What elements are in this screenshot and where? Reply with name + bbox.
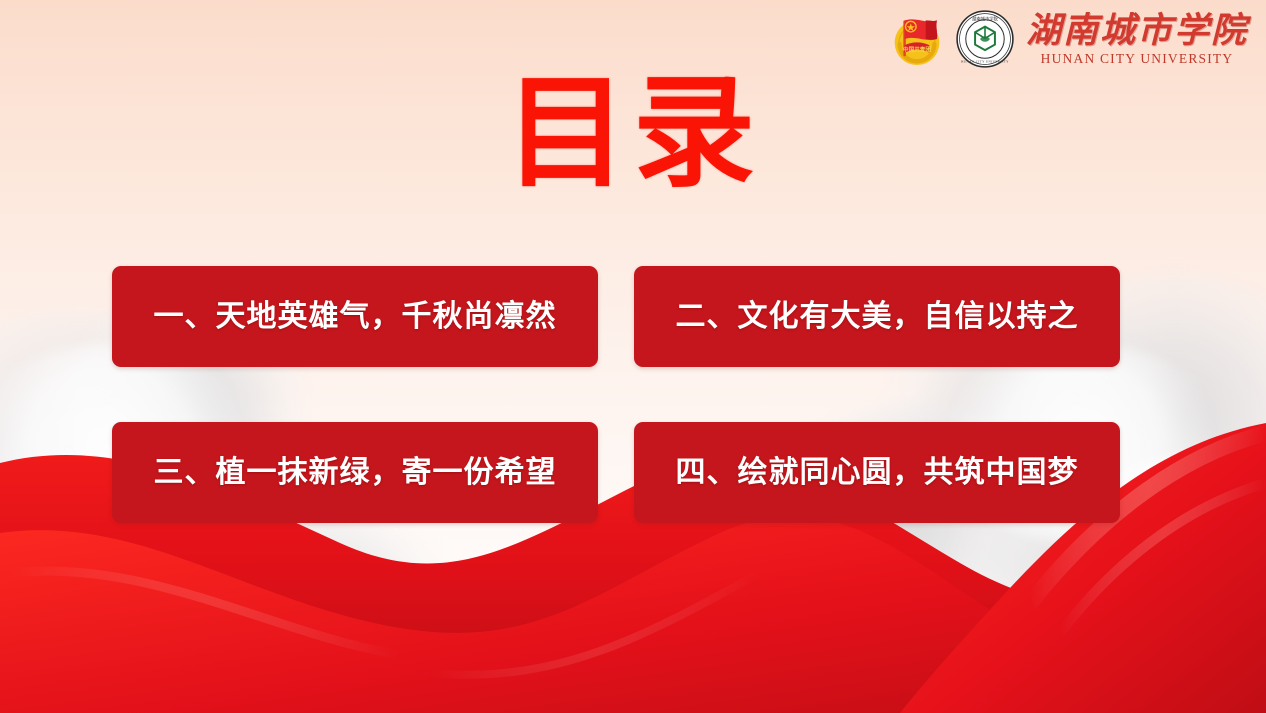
slide-canvas: 中国共青团 湖南城市学院 HUNAN CITY UNIVERSITY 湖南城市学… <box>0 0 1266 713</box>
contents-grid: 一、天地英雄气，千秋尚凛然 二、文化有大美，自信以持之 三、植一抹新绿，寄一份希… <box>112 266 1120 523</box>
contents-item-4-label: 四、绘就同心圆，共筑中国梦 <box>676 458 1079 488</box>
contents-item-4[interactable]: 四、绘就同心圆，共筑中国梦 <box>634 422 1120 523</box>
contents-item-2[interactable]: 二、文化有大美，自信以持之 <box>634 266 1120 367</box>
communist-youth-league-emblem-icon: 中国共青团 <box>886 8 948 70</box>
contents-item-3[interactable]: 三、植一抹新绿，寄一份希望 <box>112 422 598 523</box>
university-name-en: HUNAN CITY UNIVERSITY <box>1041 52 1234 66</box>
svg-text:HUNAN CITY UNIVERSITY: HUNAN CITY UNIVERSITY <box>961 60 1009 64</box>
contents-item-1-label: 一、天地英雄气，千秋尚凛然 <box>154 302 557 332</box>
contents-item-1[interactable]: 一、天地英雄气，千秋尚凛然 <box>112 266 598 367</box>
university-name-cn: 湖南城市学院 <box>1026 13 1248 48</box>
page-title: 目录 <box>0 72 1266 194</box>
hunan-city-university-seal-icon: 湖南城市学院 HUNAN CITY UNIVERSITY <box>954 8 1016 70</box>
contents-item-3-label: 三、植一抹新绿，寄一份希望 <box>154 458 557 488</box>
university-wordmark: 湖南城市学院 HUNAN CITY UNIVERSITY <box>1026 13 1248 66</box>
contents-item-2-label: 二、文化有大美，自信以持之 <box>676 302 1079 332</box>
branding-lockup: 中国共青团 湖南城市学院 HUNAN CITY UNIVERSITY 湖南城市学… <box>886 8 1248 70</box>
